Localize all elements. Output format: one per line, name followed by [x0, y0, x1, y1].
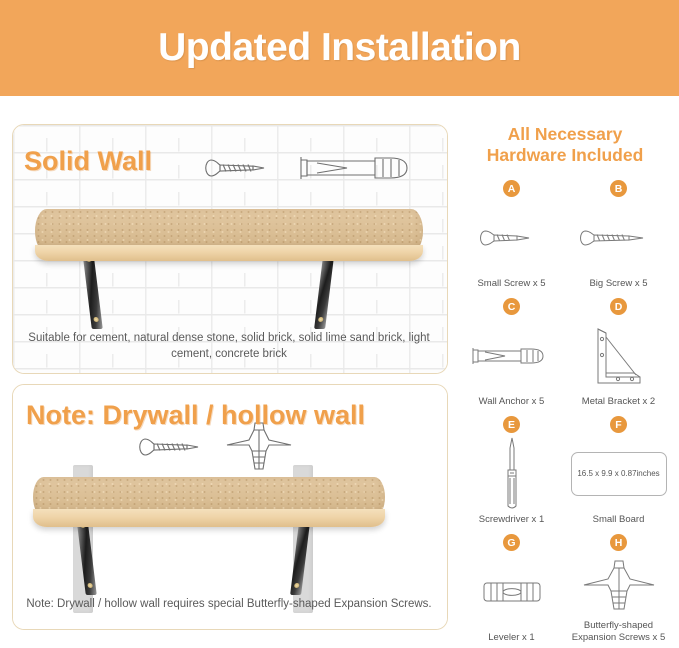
- solid-wall-caption: Suitable for cement, natural dense stone…: [22, 330, 436, 362]
- drywall-caption: Note: Drywall / hollow wall requires spe…: [22, 596, 436, 612]
- hardware-label-e: Screwdriver x 1: [479, 514, 544, 530]
- badge-f: F: [610, 416, 627, 433]
- butterfly-anchor-icon: [565, 551, 672, 620]
- hardware-label-a: Small Screw x 5: [477, 278, 545, 294]
- shelf-board-solid: [35, 209, 423, 253]
- hardware-item-g: G Leveler x 1: [458, 530, 565, 648]
- hardware-panel: All Necessary Hardware Included A Small …: [458, 124, 672, 630]
- badge-b: B: [610, 180, 627, 197]
- hardware-item-a: A Small Screw x 5: [458, 176, 565, 294]
- hardware-label-c: Wall Anchor x 5: [479, 396, 545, 412]
- hardware-grid: A Small Screw x 5 B Big Screw x: [458, 176, 672, 648]
- big-screw-icon: [565, 197, 672, 278]
- badge-e: E: [503, 416, 520, 433]
- hardware-item-f: F 16.5 x 9.9 x 0.87inches Small Board: [565, 412, 672, 530]
- drywall-title: Note: Drywall / hollow wall: [26, 400, 365, 431]
- screw-icon: [135, 433, 221, 461]
- screwdriver-icon: [458, 433, 565, 514]
- hardware-item-d: D Metal Bracket x 2: [565, 294, 672, 412]
- hardware-item-h: H Butterfly-shaped Expansion Screws x 5: [565, 530, 672, 648]
- badge-a: A: [503, 180, 520, 197]
- small-screw-icon: [458, 197, 565, 278]
- screw-icon: [201, 153, 297, 183]
- page-title: Updated Installation: [158, 26, 521, 70]
- leveler-icon: [458, 551, 565, 632]
- hardware-label-h: Butterfly-shaped Expansion Screws x 5: [569, 620, 669, 648]
- wall-anchor-icon: [458, 315, 565, 396]
- board-icon: 16.5 x 9.9 x 0.87inches: [565, 433, 672, 514]
- solid-wall-title: Solid Wall: [24, 146, 152, 177]
- hardware-label-d: Metal Bracket x 2: [582, 396, 655, 412]
- hardware-label-f: Small Board: [593, 514, 645, 530]
- badge-g: G: [503, 534, 520, 551]
- metal-bracket-icon: [565, 315, 672, 396]
- hardware-label-g: Leveler x 1: [488, 632, 534, 648]
- hardware-label-b: Big Screw x 5: [589, 278, 647, 294]
- badge-d: D: [610, 298, 627, 315]
- hardware-title-line1: All Necessary: [458, 124, 672, 145]
- hardware-item-b: B Big Screw x 5: [565, 176, 672, 294]
- hardware-item-e: E Screwdriver x 1: [458, 412, 565, 530]
- hardware-title: All Necessary Hardware Included: [458, 124, 672, 166]
- board-dimensions: 16.5 x 9.9 x 0.87inches: [571, 452, 667, 496]
- badge-c: C: [503, 298, 520, 315]
- hardware-item-c: C Wall Anchor x 5: [458, 294, 565, 412]
- wall-anchor-icon: [295, 151, 425, 185]
- badge-h: H: [610, 534, 627, 551]
- hardware-title-line2: Hardware Included: [458, 145, 672, 166]
- shelf-board-drywall: [33, 477, 385, 517]
- header-banner: Updated Installation: [0, 0, 679, 96]
